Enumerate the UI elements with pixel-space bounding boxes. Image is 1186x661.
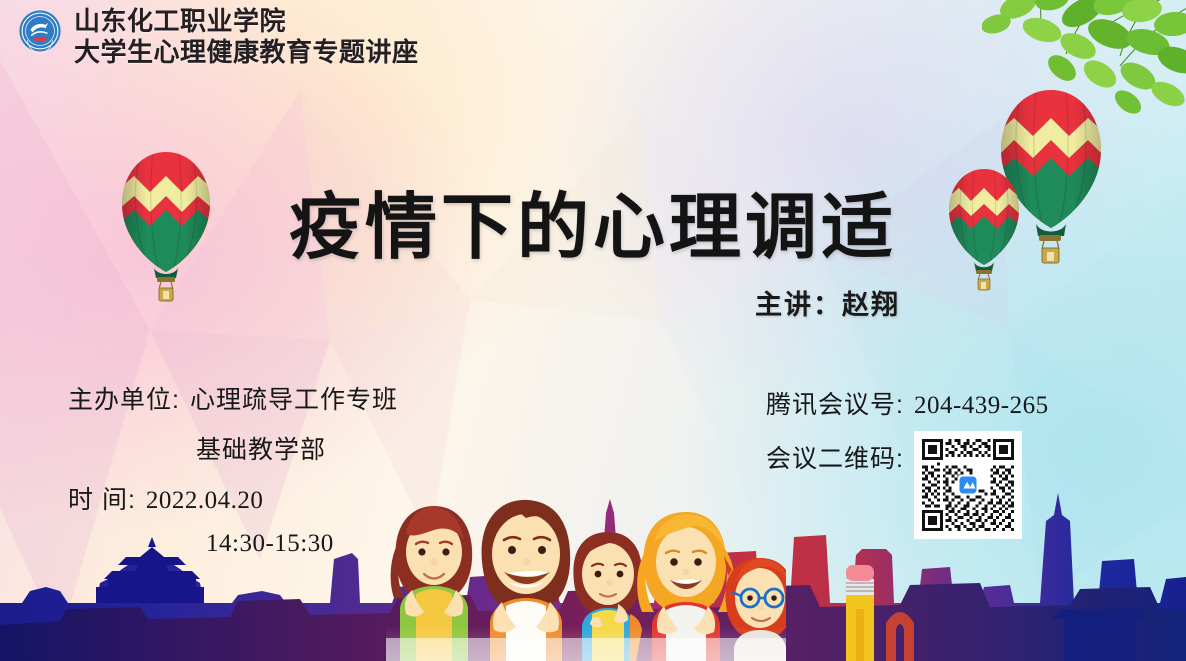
- poster-canvas: 山东化工职业学院 大学生心理健康教育专题讲座: [0, 0, 1186, 661]
- tencent-meeting-logo-icon: [958, 475, 979, 496]
- qr-code-icon[interactable]: [914, 431, 1022, 539]
- header-line-1: 山东化工职业学院: [74, 6, 419, 37]
- organizer-value: 心理疏导工作专班: [190, 380, 398, 416]
- time-row: 时 间: 2022.04.20: [68, 480, 398, 516]
- meeting-id-label: 腾讯会议号:: [766, 385, 904, 421]
- organizer-row: 主办单位: 心理疏导工作专班: [68, 380, 398, 416]
- organizer-value-2: 基础教学部: [196, 430, 326, 466]
- pencil-icon: [846, 565, 874, 661]
- info-left-block: 主办单位: 心理疏导工作专班 基础教学部 时 间: 2022.04.20 14:…: [68, 380, 398, 572]
- header: 山东化工职业学院 大学生心理健康教育专题讲座: [18, 6, 419, 67]
- header-line-2: 大学生心理健康教育专题讲座: [74, 37, 419, 68]
- qr-label: 会议二维码:: [766, 439, 904, 475]
- qr-row: 会议二维码:: [766, 439, 1049, 539]
- meeting-id-value[interactable]: 204-439-265: [914, 392, 1049, 420]
- time-label: 时 间:: [68, 480, 136, 516]
- time-value-2: 14:30-15:30: [206, 530, 334, 558]
- meeting-id-row: 腾讯会议号: 204-439-265: [766, 385, 1049, 421]
- page-title: 疫情下的心理调适: [0, 168, 1186, 273]
- time-value: 2022.04.20: [146, 487, 264, 515]
- organizer-row-2: 基础教学部: [186, 430, 398, 466]
- speaker-line: 主讲：赵翔: [755, 283, 900, 322]
- cartoon-children-icon: [386, 486, 786, 661]
- info-right-block: 腾讯会议号: 204-439-265 会议二维码:: [766, 385, 1049, 539]
- time-row-2: 14:30-15:30: [196, 530, 398, 558]
- organizer-label: 主办单位:: [68, 380, 180, 416]
- college-seal-icon: [18, 9, 62, 53]
